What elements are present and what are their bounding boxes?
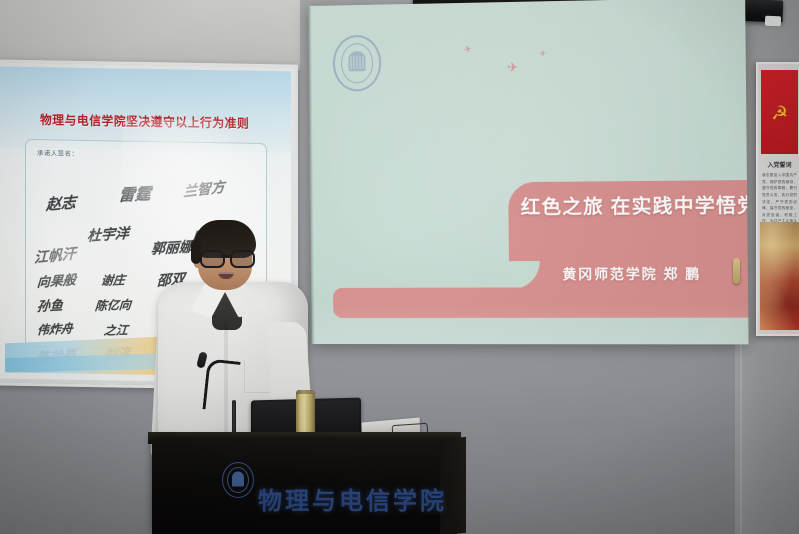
seal-pagoda-glyph [348, 51, 365, 71]
poster-photo-graphic [760, 222, 799, 330]
projection-screen: ✈ ✈ ✈ 红色之旅 在实践中学悟党史 黄冈师范学院 郑 鹏 [308, 0, 748, 344]
bird-icon: ✈ [539, 50, 547, 59]
lecture-photo-scene: 物理与电信学院坚决遵守以上行为准则 承诺人签名： 赵志雷霆兰智方杜宇洋周辉江帆汗… [0, 0, 799, 534]
signature: 向果般 [37, 269, 77, 291]
signature: 赵志 [45, 191, 76, 215]
hammer-sickle-icon: ☭ [771, 105, 788, 124]
screen-edge-clip [733, 258, 740, 284]
party-oath-poster: ☭ 入党誓词 我志愿加入中国共产党，拥护党的纲领，遵守党的章程，履行党员义务，执… [756, 62, 799, 336]
bird-icon: ✈ [463, 44, 473, 55]
signature: 陈亿向 [95, 296, 132, 314]
signature: 伟炸舟 [36, 319, 73, 338]
party-flag-graphic: ☭ [761, 70, 798, 154]
slide-title: 红色之旅 在实践中学悟党史 [521, 190, 749, 219]
bird-icon: ✈ [507, 60, 519, 74]
presenter-glasses-icon [200, 250, 252, 264]
signature: 孙鱼 [36, 294, 63, 314]
glasses-lens-right [230, 250, 255, 268]
signature: 之江 [103, 321, 129, 338]
slide-subtitle: 黄冈师范学院 郑 鹏 [562, 262, 748, 283]
slide-surface: ✈ ✈ ✈ 红色之旅 在实践中学悟党史 黄冈师范学院 郑 鹏 [308, 0, 748, 344]
screen-bottom-shading [311, 303, 748, 344]
floor-shadow [0, 384, 799, 534]
glasses-bridge [221, 255, 230, 257]
university-seal-logo [333, 35, 382, 92]
signature: 杜宇洋 [86, 223, 129, 246]
board-sub-label: 承诺人签名： [37, 147, 78, 158]
poster-heading: 入党誓词 [758, 160, 799, 169]
slide-accent-notch [509, 261, 540, 289]
screen-roller-end-cap [765, 16, 781, 27]
signature: 江帆汗 [34, 243, 76, 268]
glasses-lens-left [200, 250, 225, 268]
signature: 谢庄 [100, 271, 125, 289]
signature: 雷霆 [118, 180, 152, 206]
board-title: 物理与电信学院坚决遵守以上行为准则 [30, 109, 261, 132]
